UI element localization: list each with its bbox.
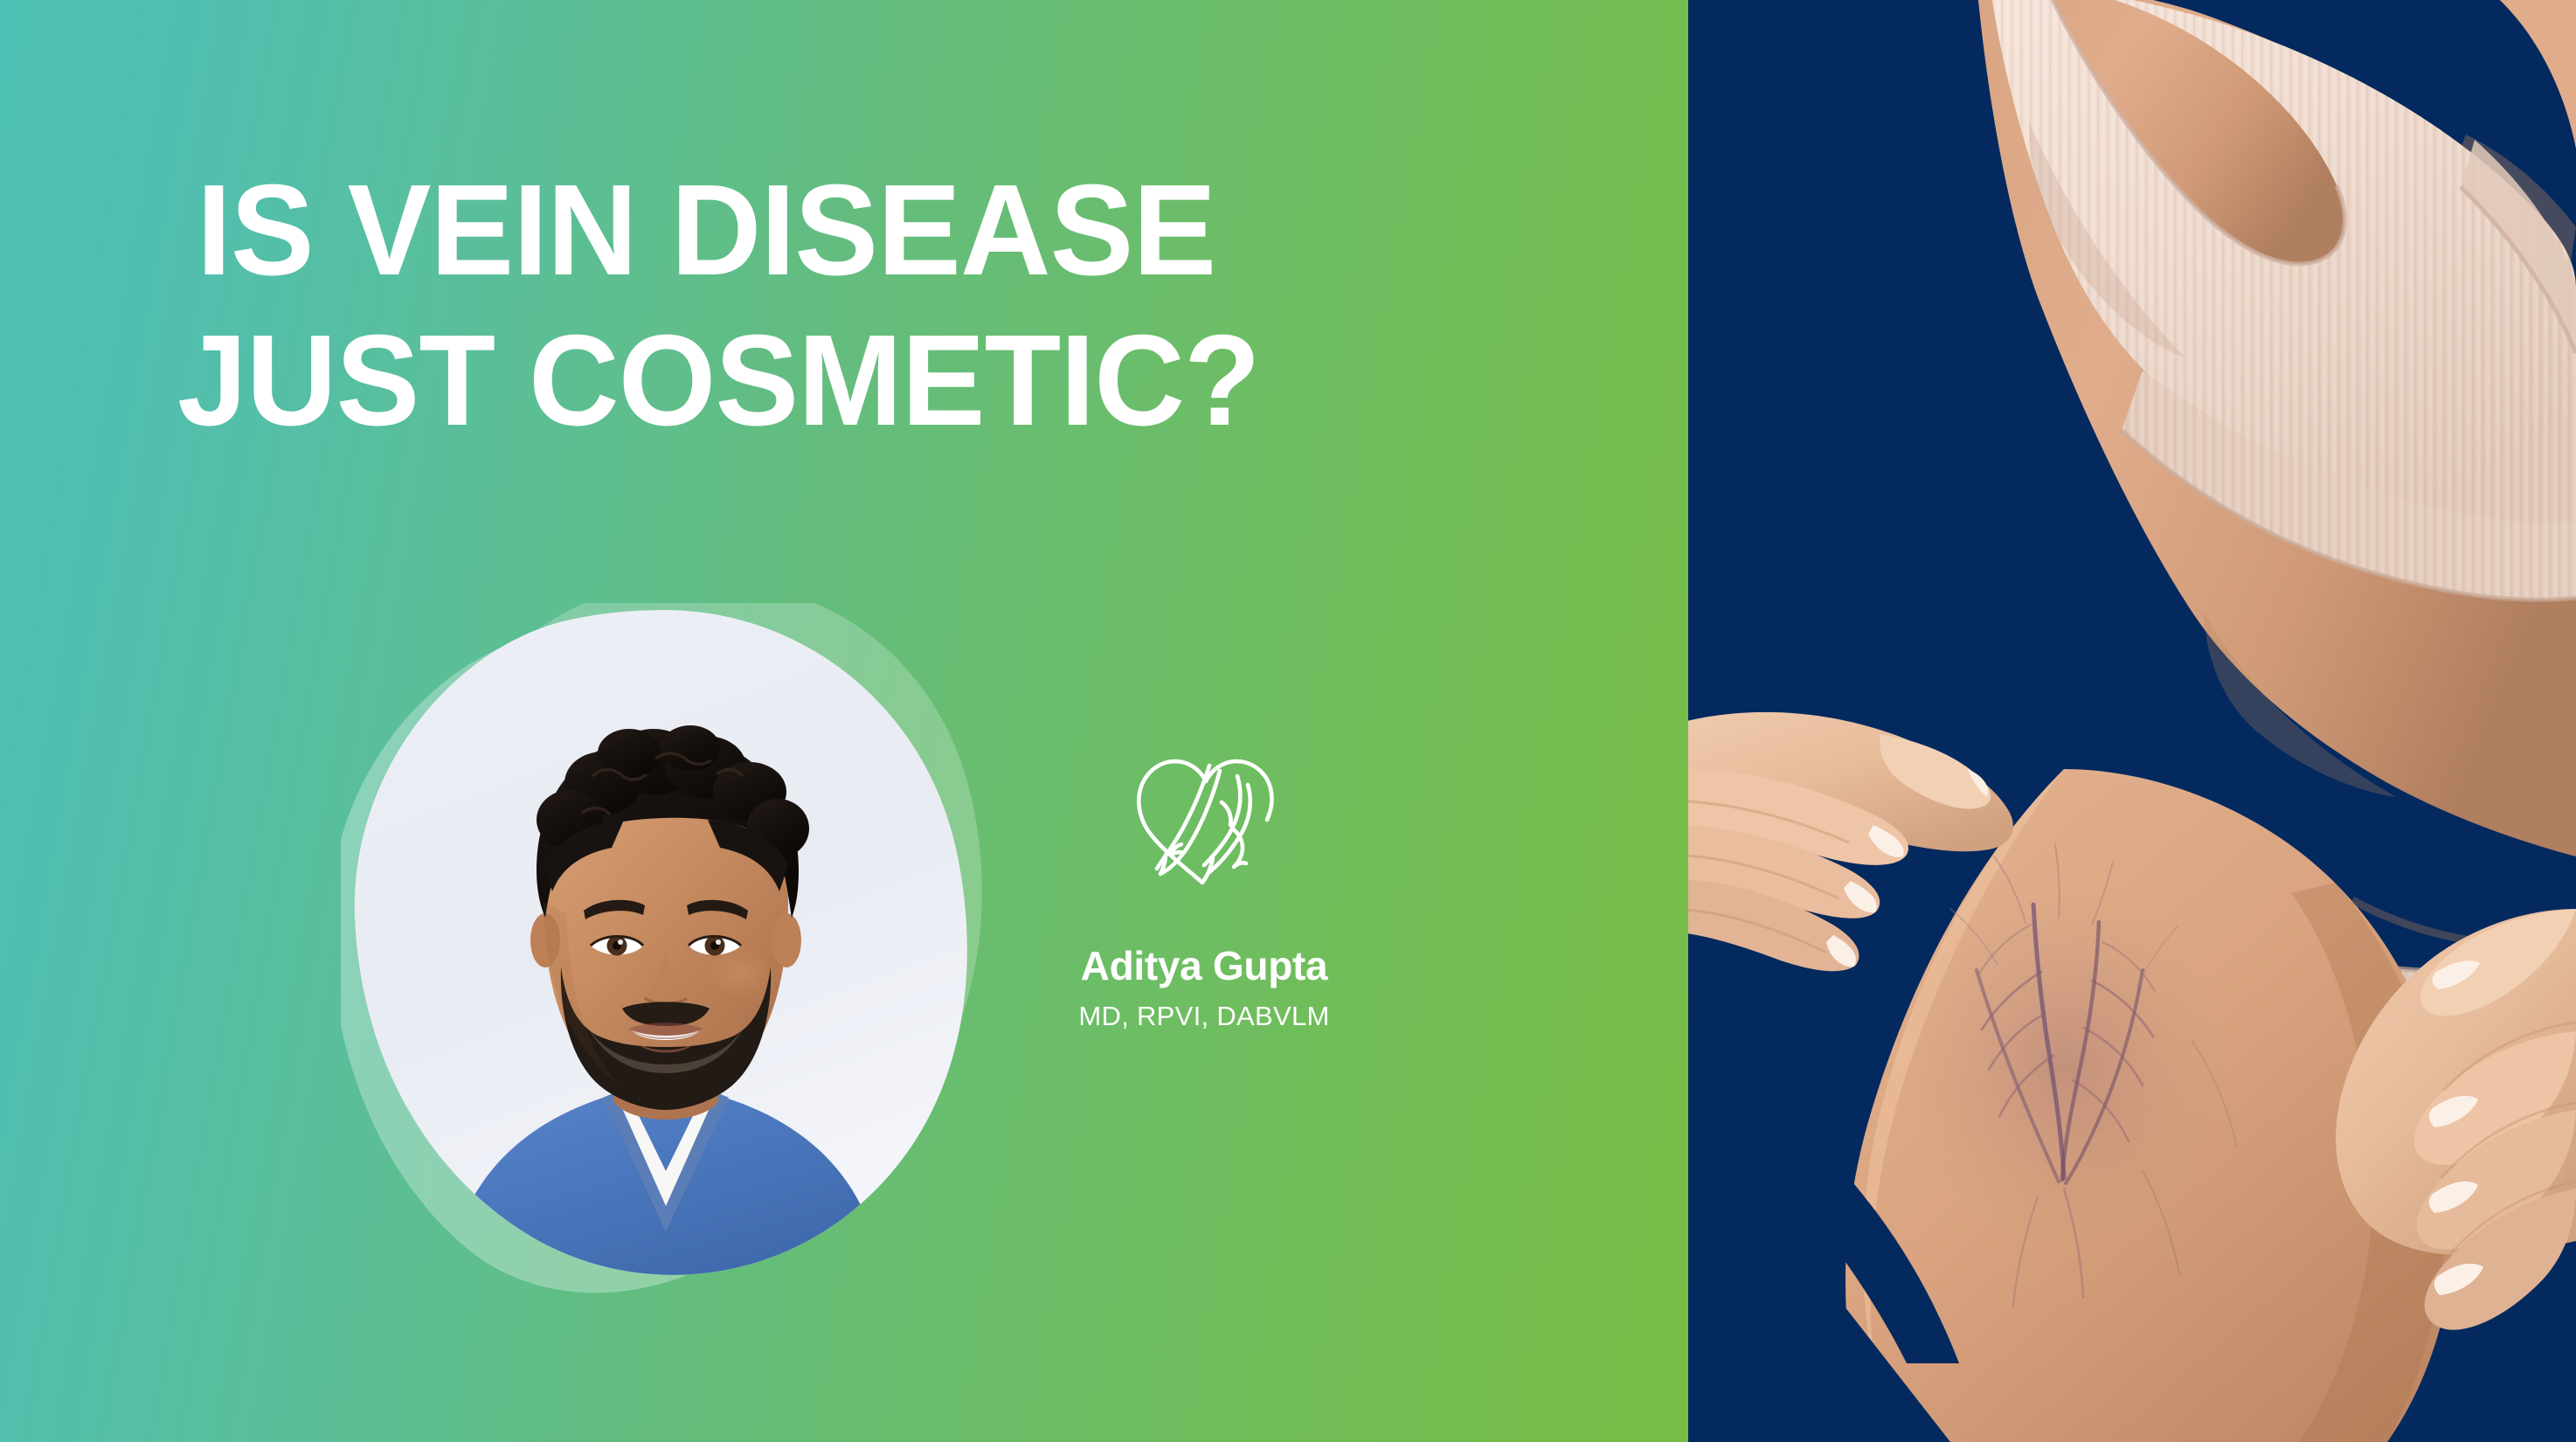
promo-banner: IS VEIN DISEASE JUST COSMETIC? bbox=[0, 0, 2576, 1442]
heart-legs-logo bbox=[1125, 745, 1283, 889]
headline: IS VEIN DISEASE JUST COSMETIC? bbox=[197, 166, 1612, 446]
doctor-name: Aditya Gupta bbox=[942, 944, 1466, 988]
headline-line-2: JUST COSMETIC? bbox=[177, 316, 1569, 446]
portrait-blob-shape bbox=[341, 603, 987, 1293]
spider-veins-thigh-photo bbox=[1688, 0, 2576, 1442]
headline-line-1: IS VEIN DISEASE bbox=[197, 166, 1569, 295]
left-gradient-panel: IS VEIN DISEASE JUST COSMETIC? bbox=[0, 0, 1688, 1442]
doctor-name-block: Aditya Gupta MD, RPVI, DABVLM bbox=[942, 944, 1466, 1032]
doctor-portrait-group bbox=[341, 603, 987, 1293]
right-photo-panel bbox=[1688, 0, 2576, 1442]
doctor-credentials: MD, RPVI, DABVLM bbox=[942, 1001, 1466, 1032]
